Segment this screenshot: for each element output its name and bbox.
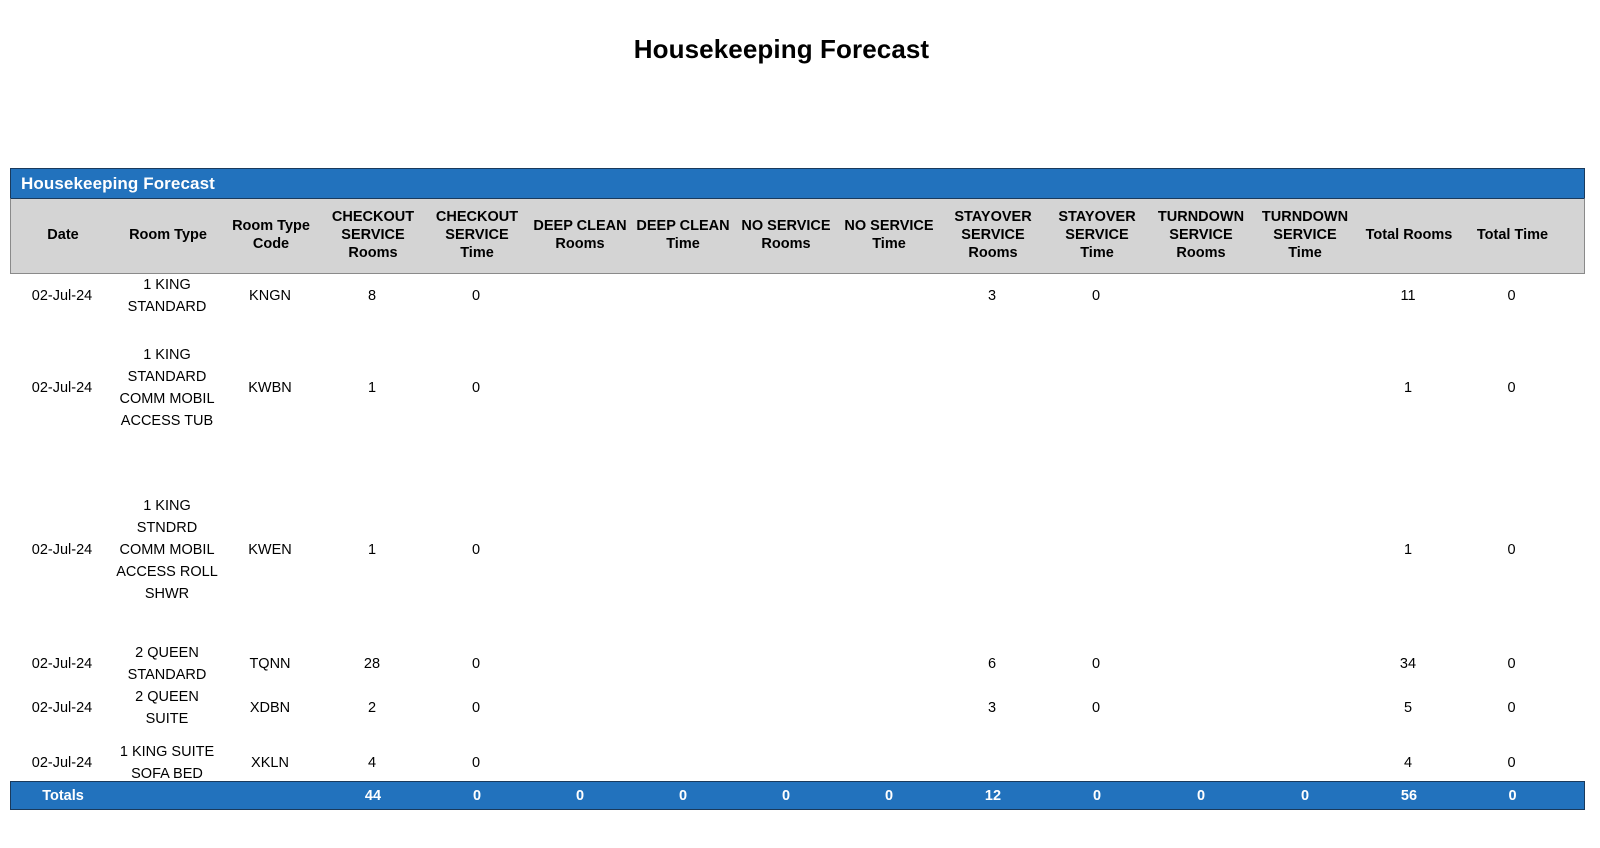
cell-room-type-code: TQNN	[220, 653, 320, 675]
table-row[interactable]: 02-Jul-242 QUEEN SUITEXDBN203050	[10, 686, 1585, 730]
page-title: Housekeeping Forecast	[0, 34, 1563, 65]
cell-room-type: 1 KING SUITE SOFA BED	[114, 741, 220, 785]
totals-no-service-time: 0	[837, 788, 941, 804]
cell-checkout-service-time: 0	[424, 653, 528, 675]
cell-stayover-service-rooms: 3	[940, 697, 1044, 719]
cell-checkout-service-rooms: 4	[320, 752, 424, 774]
cell-stayover-service-rooms: 6	[940, 653, 1044, 675]
cell-stayover-service-time: 0	[1044, 697, 1148, 719]
cell-checkout-service-rooms: 1	[320, 377, 424, 399]
cell-total-time: 0	[1460, 539, 1563, 561]
totals-no-service-rooms: 0	[735, 788, 837, 804]
column-header-room-type-code[interactable]: Room Type Code	[221, 199, 321, 273]
cell-total-time: 0	[1460, 653, 1563, 675]
column-header-total-time[interactable]: Total Time	[1461, 199, 1564, 273]
column-header-turndown-service-rooms[interactable]: TURNDOWN SERVICE Rooms	[1149, 199, 1253, 273]
cell-checkout-service-rooms: 28	[320, 653, 424, 675]
cell-room-type-code: KWEN	[220, 539, 320, 561]
cell-room-type: 2 QUEEN SUITE	[114, 686, 220, 730]
table-row[interactable]: 02-Jul-241 KING STNDRD COMM MOBIL ACCESS…	[10, 458, 1585, 642]
column-header-no-service-time[interactable]: NO SERVICE Time	[837, 199, 941, 273]
column-header-date[interactable]: Date	[11, 199, 115, 273]
totals-label: Totals	[11, 788, 115, 804]
column-header-stayover-service-time[interactable]: STAYOVER SERVICE Time	[1045, 199, 1149, 273]
column-header-room-type[interactable]: Room Type	[115, 199, 221, 273]
cell-total-rooms: 1	[1356, 377, 1460, 399]
totals-checkout-service-time: 0	[425, 788, 529, 804]
totals-turndown-service-rooms: 0	[1149, 788, 1253, 804]
column-header-checkout-service-rooms[interactable]: CHECKOUT SERVICE Rooms	[321, 199, 425, 273]
totals-row: Totals 44 0 0 0 0 0 12 0 0 0 56 0	[10, 781, 1585, 810]
totals-total-rooms: 56	[1357, 788, 1461, 804]
cell-date: 02-Jul-24	[10, 697, 114, 719]
totals-stayover-service-rooms: 12	[941, 788, 1045, 804]
cell-checkout-service-rooms: 2	[320, 697, 424, 719]
cell-checkout-service-rooms: 8	[320, 285, 424, 307]
totals-turndown-service-time: 0	[1253, 788, 1357, 804]
report-title-band: Housekeeping Forecast	[10, 168, 1585, 198]
cell-total-rooms: 1	[1356, 539, 1460, 561]
cell-checkout-service-time: 0	[424, 697, 528, 719]
housekeeping-forecast-report: Housekeeping Forecast Date Room Type Roo…	[10, 168, 1585, 812]
table-header-row: Date Room Type Room Type Code CHECKOUT S…	[10, 198, 1585, 274]
cell-total-rooms: 4	[1356, 752, 1460, 774]
cell-room-type: 1 KING STANDARD COMM MOBIL ACCESS TUB	[114, 344, 220, 432]
cell-checkout-service-time: 0	[424, 377, 528, 399]
table-body: 02-Jul-241 KING STANDARDKNGN803011002-Ju…	[10, 274, 1585, 812]
cell-room-type-code: XKLN	[220, 752, 320, 774]
cell-total-rooms: 34	[1356, 653, 1460, 675]
cell-stayover-service-time: 0	[1044, 285, 1148, 307]
cell-total-time: 0	[1460, 752, 1563, 774]
cell-checkout-service-time: 0	[424, 285, 528, 307]
cell-room-type-code: KWBN	[220, 377, 320, 399]
cell-total-rooms: 11	[1356, 285, 1460, 307]
totals-deep-clean-rooms: 0	[529, 788, 631, 804]
column-header-deep-clean-time[interactable]: DEEP CLEAN Time	[631, 199, 735, 273]
cell-total-time: 0	[1460, 285, 1563, 307]
cell-stayover-service-rooms: 3	[940, 285, 1044, 307]
cell-room-type: 2 QUEEN STANDARD	[114, 642, 220, 686]
cell-total-time: 0	[1460, 377, 1563, 399]
totals-deep-clean-time: 0	[631, 788, 735, 804]
cell-room-type: 1 KING STNDRD COMM MOBIL ACCESS ROLL SHW…	[114, 495, 220, 605]
report-band-title: Housekeeping Forecast	[21, 174, 215, 194]
cell-date: 02-Jul-24	[10, 653, 114, 675]
cell-room-type-code: KNGN	[220, 285, 320, 307]
table-row[interactable]: 02-Jul-241 KING STANDARDKNGN8030110	[10, 274, 1585, 318]
cell-stayover-service-time: 0	[1044, 653, 1148, 675]
cell-date: 02-Jul-24	[10, 539, 114, 561]
cell-date: 02-Jul-24	[10, 377, 114, 399]
cell-total-time: 0	[1460, 697, 1563, 719]
cell-checkout-service-time: 0	[424, 752, 528, 774]
table-row[interactable]: 02-Jul-241 KING STANDARD COMM MOBIL ACCE…	[10, 318, 1585, 458]
totals-stayover-service-time: 0	[1045, 788, 1149, 804]
column-header-stayover-service-rooms[interactable]: STAYOVER SERVICE Rooms	[941, 199, 1045, 273]
cell-date: 02-Jul-24	[10, 752, 114, 774]
column-header-deep-clean-rooms[interactable]: DEEP CLEAN Rooms	[529, 199, 631, 273]
totals-checkout-service-rooms: 44	[321, 788, 425, 804]
cell-room-type: 1 KING STANDARD	[114, 274, 220, 318]
column-header-turndown-service-time[interactable]: TURNDOWN SERVICE Time	[1253, 199, 1357, 273]
cell-date: 02-Jul-24	[10, 285, 114, 307]
cell-checkout-service-rooms: 1	[320, 539, 424, 561]
column-header-checkout-service-time[interactable]: CHECKOUT SERVICE Time	[425, 199, 529, 273]
column-header-total-rooms[interactable]: Total Rooms	[1357, 199, 1461, 273]
cell-total-rooms: 5	[1356, 697, 1460, 719]
cell-room-type-code: XDBN	[220, 697, 320, 719]
cell-checkout-service-time: 0	[424, 539, 528, 561]
table-row[interactable]: 02-Jul-242 QUEEN STANDARDTQNN28060340	[10, 642, 1585, 686]
totals-total-time: 0	[1461, 788, 1564, 804]
column-header-no-service-rooms[interactable]: NO SERVICE Rooms	[735, 199, 837, 273]
